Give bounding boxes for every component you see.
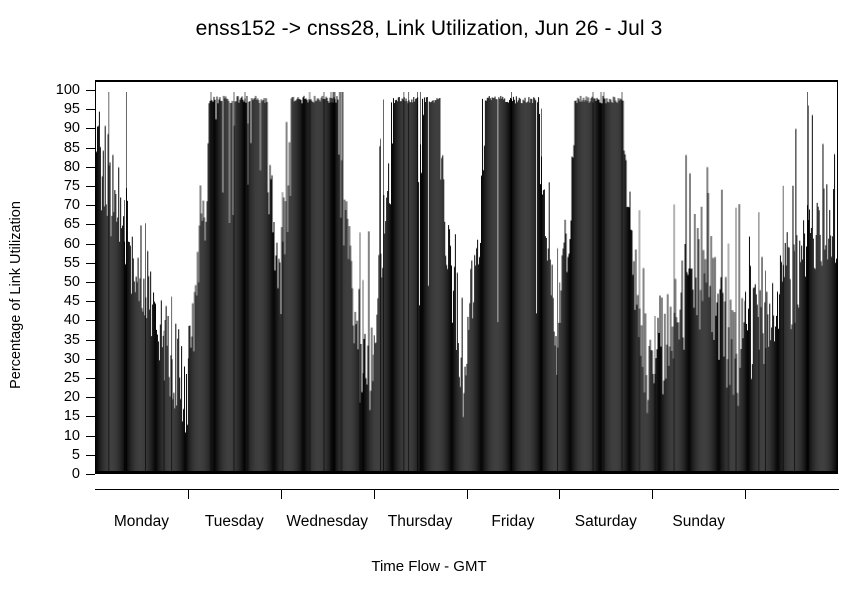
x-tick-label: Tuesday — [205, 513, 264, 531]
x-tick-label: Monday — [114, 513, 169, 531]
x-tick-label: Friday — [491, 513, 534, 531]
chart-figure: enss152 -> cnss28, Link Utilization, Jun… — [0, 0, 858, 600]
x-tick-label: Thursday — [388, 513, 453, 531]
x-tick-label: Saturday — [575, 513, 637, 531]
x-tick-label: Sunday — [672, 513, 725, 531]
x-tick-label: Wednesday — [286, 513, 368, 531]
x-axis-title: Time Flow - GMT — [0, 558, 858, 575]
x-axis-tick-labels: MondayTuesdayWednesdayThursdayFridaySatu… — [0, 0, 858, 600]
